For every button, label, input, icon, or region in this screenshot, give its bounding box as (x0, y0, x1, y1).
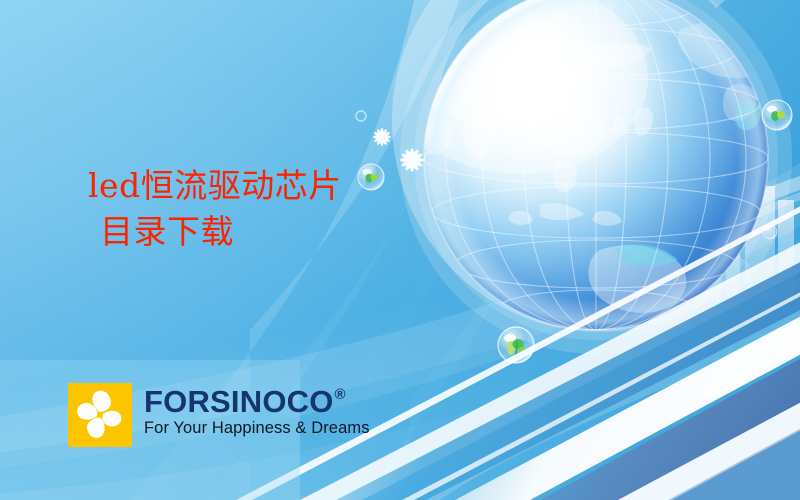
four-petal-pinwheel-icon (68, 383, 132, 447)
logo-tagline: For Your Happiness & Dreams (144, 419, 370, 438)
company-logo[interactable]: FORSINOCO ® For Your Happiness & Dreams (68, 383, 370, 447)
logo-wordmark-row: FORSINOCO ® (144, 385, 370, 419)
banner-title: led恒流驱动芯片 目录下载 (88, 163, 342, 255)
registered-trademark-icon: ® (335, 387, 346, 402)
logo-text-block: FORSINOCO ® For Your Happiness & Dreams (144, 383, 370, 438)
title-line-primary: led恒流驱动芯片 (88, 163, 342, 209)
marketing-banner: led恒流驱动芯片 目录下载 FORSINOCO ® For Your Happ… (0, 0, 800, 500)
title-line-secondary: 目录下载 (88, 209, 342, 255)
logo-wordmark-text: FORSINOCO (144, 385, 334, 419)
